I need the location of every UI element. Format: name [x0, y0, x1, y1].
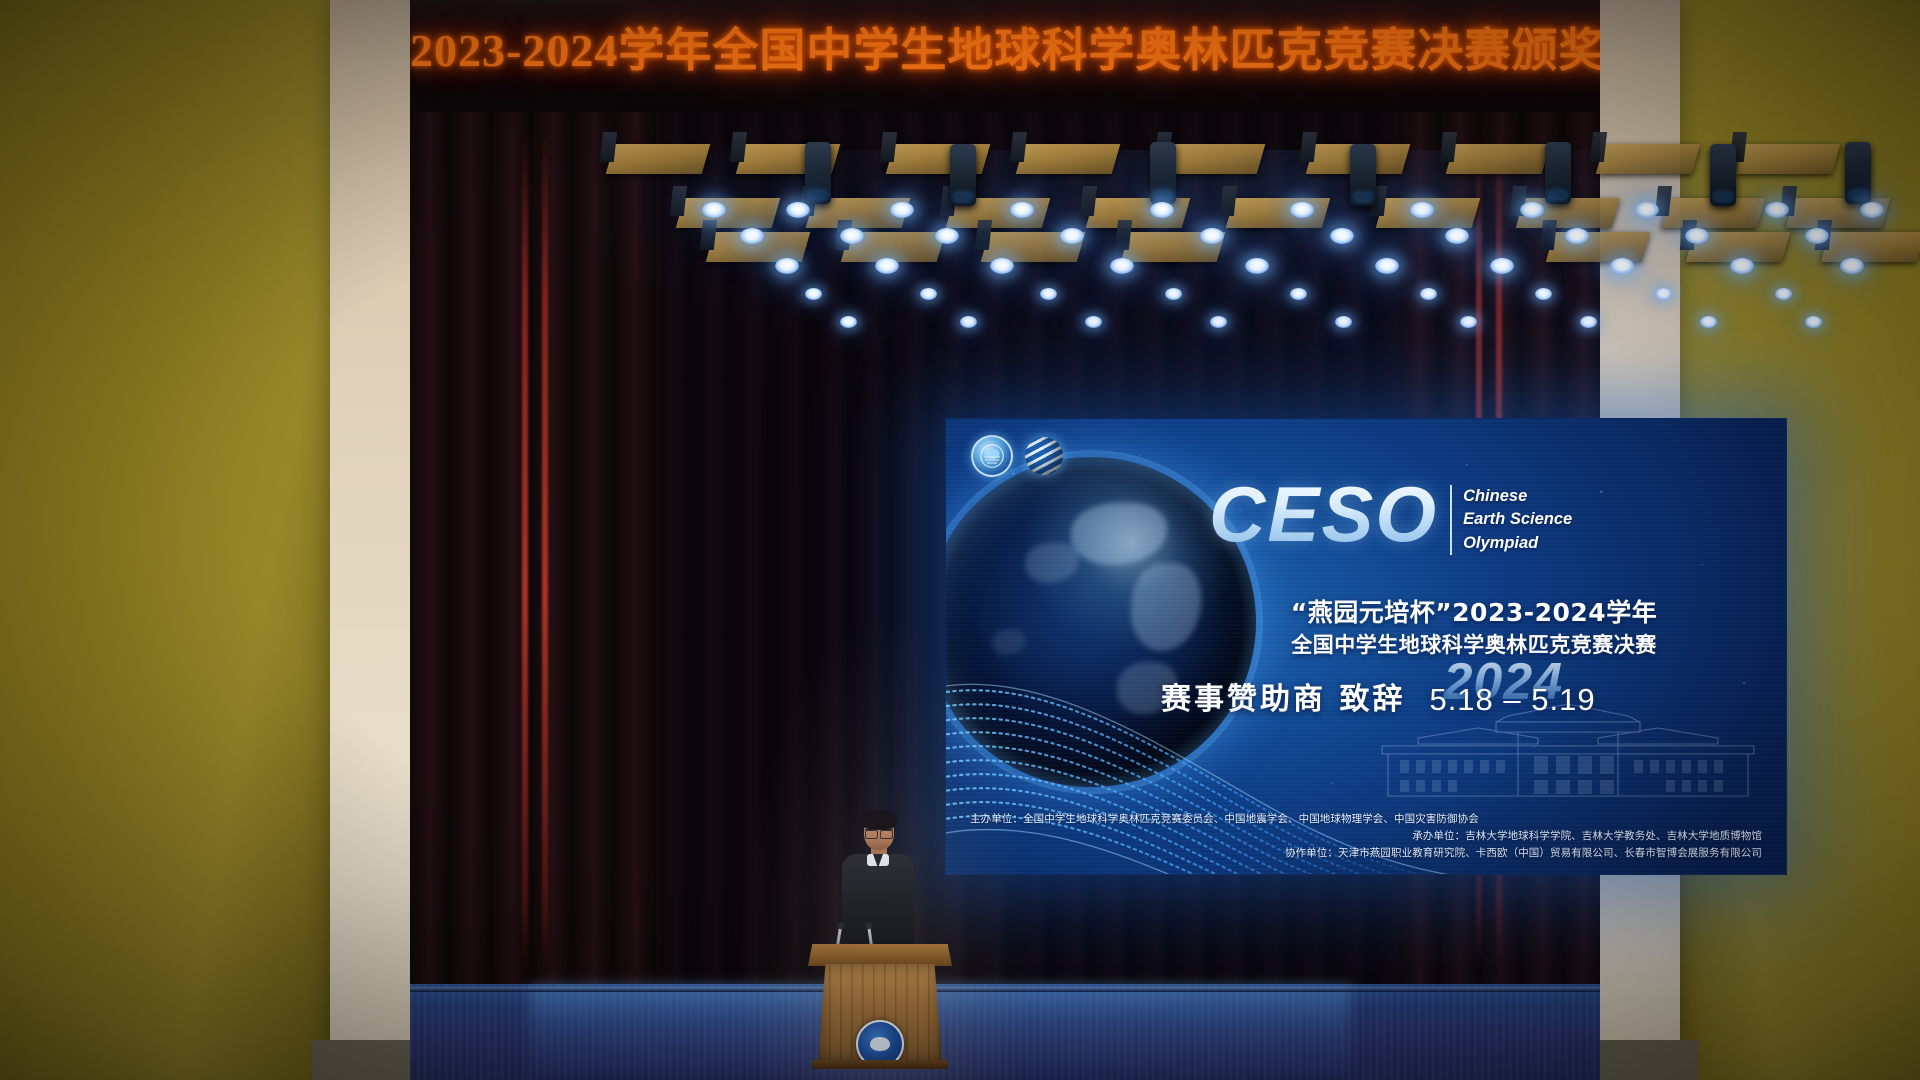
stage-photograph: 2023-2024学年全国中学生地球科学奥林匹克竞赛决赛颁奖典礼暨闭幕式	[0, 0, 1920, 1080]
speaker-figure	[836, 814, 920, 950]
barn-door-light-panel	[1226, 198, 1331, 228]
led-spot-light	[805, 288, 822, 300]
led-spot-light	[1110, 258, 1134, 274]
led-spot-light	[1085, 316, 1102, 328]
led-spot-light	[1840, 258, 1864, 274]
led-spot-light	[1535, 288, 1552, 300]
event-date-range: 5.18 – 5.19	[1429, 682, 1595, 718]
moving-head-fixture	[1545, 142, 1571, 204]
led-spot-light	[920, 288, 937, 300]
led-spot-light	[1490, 258, 1514, 274]
led-spot-light	[1010, 202, 1034, 218]
podium-base	[812, 1060, 948, 1069]
ceso-seal-inner-icon	[979, 443, 1005, 469]
led-spot-light	[1860, 202, 1884, 218]
led-spot-light	[1765, 202, 1789, 218]
led-spot-light	[1290, 288, 1307, 300]
led-marquee-band: 2023-2024学年全国中学生地球科学奥林匹克竞赛决赛颁奖典礼暨闭幕式	[410, 0, 1600, 114]
lighting-truss	[590, 140, 1890, 330]
led-spot-light	[1655, 288, 1672, 300]
barn-door-light-panel	[606, 144, 711, 174]
ceso-subtitle-line-1: Chinese	[1463, 485, 1572, 508]
auditorium-wall-left	[0, 0, 340, 1080]
barn-door-light-panel	[1546, 232, 1651, 262]
led-spot-light	[1335, 316, 1352, 328]
led-spot-light	[1420, 288, 1437, 300]
podium-body	[818, 964, 942, 1062]
led-spot-light	[1150, 202, 1174, 218]
moving-head-fixture	[950, 144, 976, 206]
barn-door-light-panel	[1736, 144, 1841, 174]
session-label: 赛事赞助商 致辞	[1161, 674, 1405, 718]
moving-head-fixture	[805, 142, 831, 204]
led-spot-light	[1805, 316, 1822, 328]
led-spot-light	[1565, 228, 1589, 244]
led-spot-light	[1165, 288, 1182, 300]
barn-door-light-panel	[1446, 144, 1551, 174]
led-spot-light	[702, 202, 726, 218]
podium-group	[810, 812, 950, 1062]
stage-floor	[410, 984, 1600, 1080]
pilaster-left	[330, 0, 418, 1080]
led-spot-light	[1580, 316, 1597, 328]
fineprint-line-2: 承办单位：吉林大学地球科学学院、吉林大学教务处、吉林大学地质博物馆	[970, 828, 1762, 845]
moving-head-fixture	[1710, 144, 1736, 206]
led-spot-light	[1290, 202, 1314, 218]
led-spot-light	[1805, 228, 1829, 244]
led-spot-light	[890, 202, 914, 218]
speaker-torso	[842, 854, 914, 950]
led-spot-light	[1245, 258, 1269, 274]
speaker-hair	[861, 810, 897, 830]
led-spot-light	[1730, 258, 1754, 274]
ceso-acronym: CESO	[1209, 479, 1438, 549]
moving-head-fixture	[1150, 142, 1176, 204]
led-spot-light	[935, 228, 959, 244]
led-spot-light	[1775, 288, 1792, 300]
fineprint-line-1: 主办单位：全国中学生地球科学奥林匹克竞赛委员会、中国地震学会、中国地球物理学会、…	[970, 811, 1762, 828]
led-spot-light	[1610, 258, 1634, 274]
ceso-subtitle-line-3: Olympiad	[1463, 532, 1572, 555]
speaker-collar	[867, 854, 889, 866]
led-spot-light	[1685, 228, 1709, 244]
fineprint-line-3: 协作单位：天津市燕园职业教育研究院、卡西欧（中国）贸易有限公司、长春市智博会展服…	[970, 845, 1762, 862]
led-spot-light	[1200, 228, 1224, 244]
ceso-seal-logo-icon	[971, 435, 1013, 477]
event-date-stack: 2024 5.18 – 5.19	[1429, 682, 1595, 718]
led-spot-light	[1445, 228, 1469, 244]
event-title-line-1: “燕园元培杯”2023-2024学年	[1194, 597, 1754, 629]
led-spot-light	[1060, 228, 1084, 244]
moving-head-fixture	[1350, 144, 1376, 206]
led-spot-light	[1040, 288, 1057, 300]
led-spot-light	[786, 202, 810, 218]
ceso-brand-lockup: CESO Chinese Earth Science Olympiad	[1209, 479, 1572, 555]
led-spot-light	[840, 228, 864, 244]
led-spot-light	[1410, 202, 1434, 218]
ceso-subtitle: Chinese Earth Science Olympiad	[1450, 485, 1572, 555]
stage-floor-edge	[410, 987, 1600, 992]
barn-door-light-panel	[676, 198, 781, 228]
led-spot-light	[1460, 316, 1477, 328]
led-spot-light	[840, 316, 857, 328]
barn-door-light-panel	[1821, 232, 1920, 262]
led-spot-light	[1635, 202, 1659, 218]
led-spot-light	[1210, 316, 1227, 328]
ceso-subtitle-line-2: Earth Science	[1463, 508, 1572, 531]
event-title-block: “燕园元培杯”2023-2024学年 全国中学生地球科学奥林匹克竞赛决赛	[1194, 597, 1754, 659]
led-spot-light	[1520, 202, 1544, 218]
barn-door-light-panel	[1596, 144, 1701, 174]
barn-door-light-panel	[1086, 198, 1191, 228]
led-spot-light	[1330, 228, 1354, 244]
led-spot-light	[875, 258, 899, 274]
led-spot-light	[775, 258, 799, 274]
curtain-highlight-2	[542, 130, 548, 970]
organizer-fineprint: 主办单位：全国中学生地球科学奥林匹克竞赛委员会、中国地震学会、中国地球物理学会、…	[970, 811, 1762, 862]
led-spot-light	[990, 258, 1014, 274]
led-banner-text: 2023-2024学年全国中学生地球科学奥林匹克竞赛决赛颁奖典礼暨闭幕式	[410, 14, 1600, 80]
curtain-highlight-1	[522, 130, 528, 970]
screen-logo-row	[971, 435, 1063, 477]
led-spot-light	[960, 316, 977, 328]
led-spot-light	[740, 228, 764, 244]
led-spot-light	[1375, 258, 1399, 274]
barn-door-light-panel	[1016, 144, 1121, 174]
barn-door-light-panel	[1161, 144, 1266, 174]
session-date-row: 赛事赞助商 致辞 2024 5.18 – 5.19	[1161, 674, 1761, 718]
wooden-podium	[810, 944, 950, 1062]
led-spot-light	[1700, 316, 1717, 328]
proscenium-arch: 2023-2024学年全国中学生地球科学奥林匹克竞赛决赛颁奖典礼暨闭幕式	[410, 0, 1600, 1080]
led-presentation-screen: CESO Chinese Earth Science Olympiad “燕园元…	[945, 418, 1787, 875]
speaker-glasses	[865, 829, 893, 837]
striped-globe-logo-icon	[1025, 437, 1063, 475]
moving-head-fixture	[1845, 142, 1871, 204]
podium-top-surface	[808, 944, 952, 966]
